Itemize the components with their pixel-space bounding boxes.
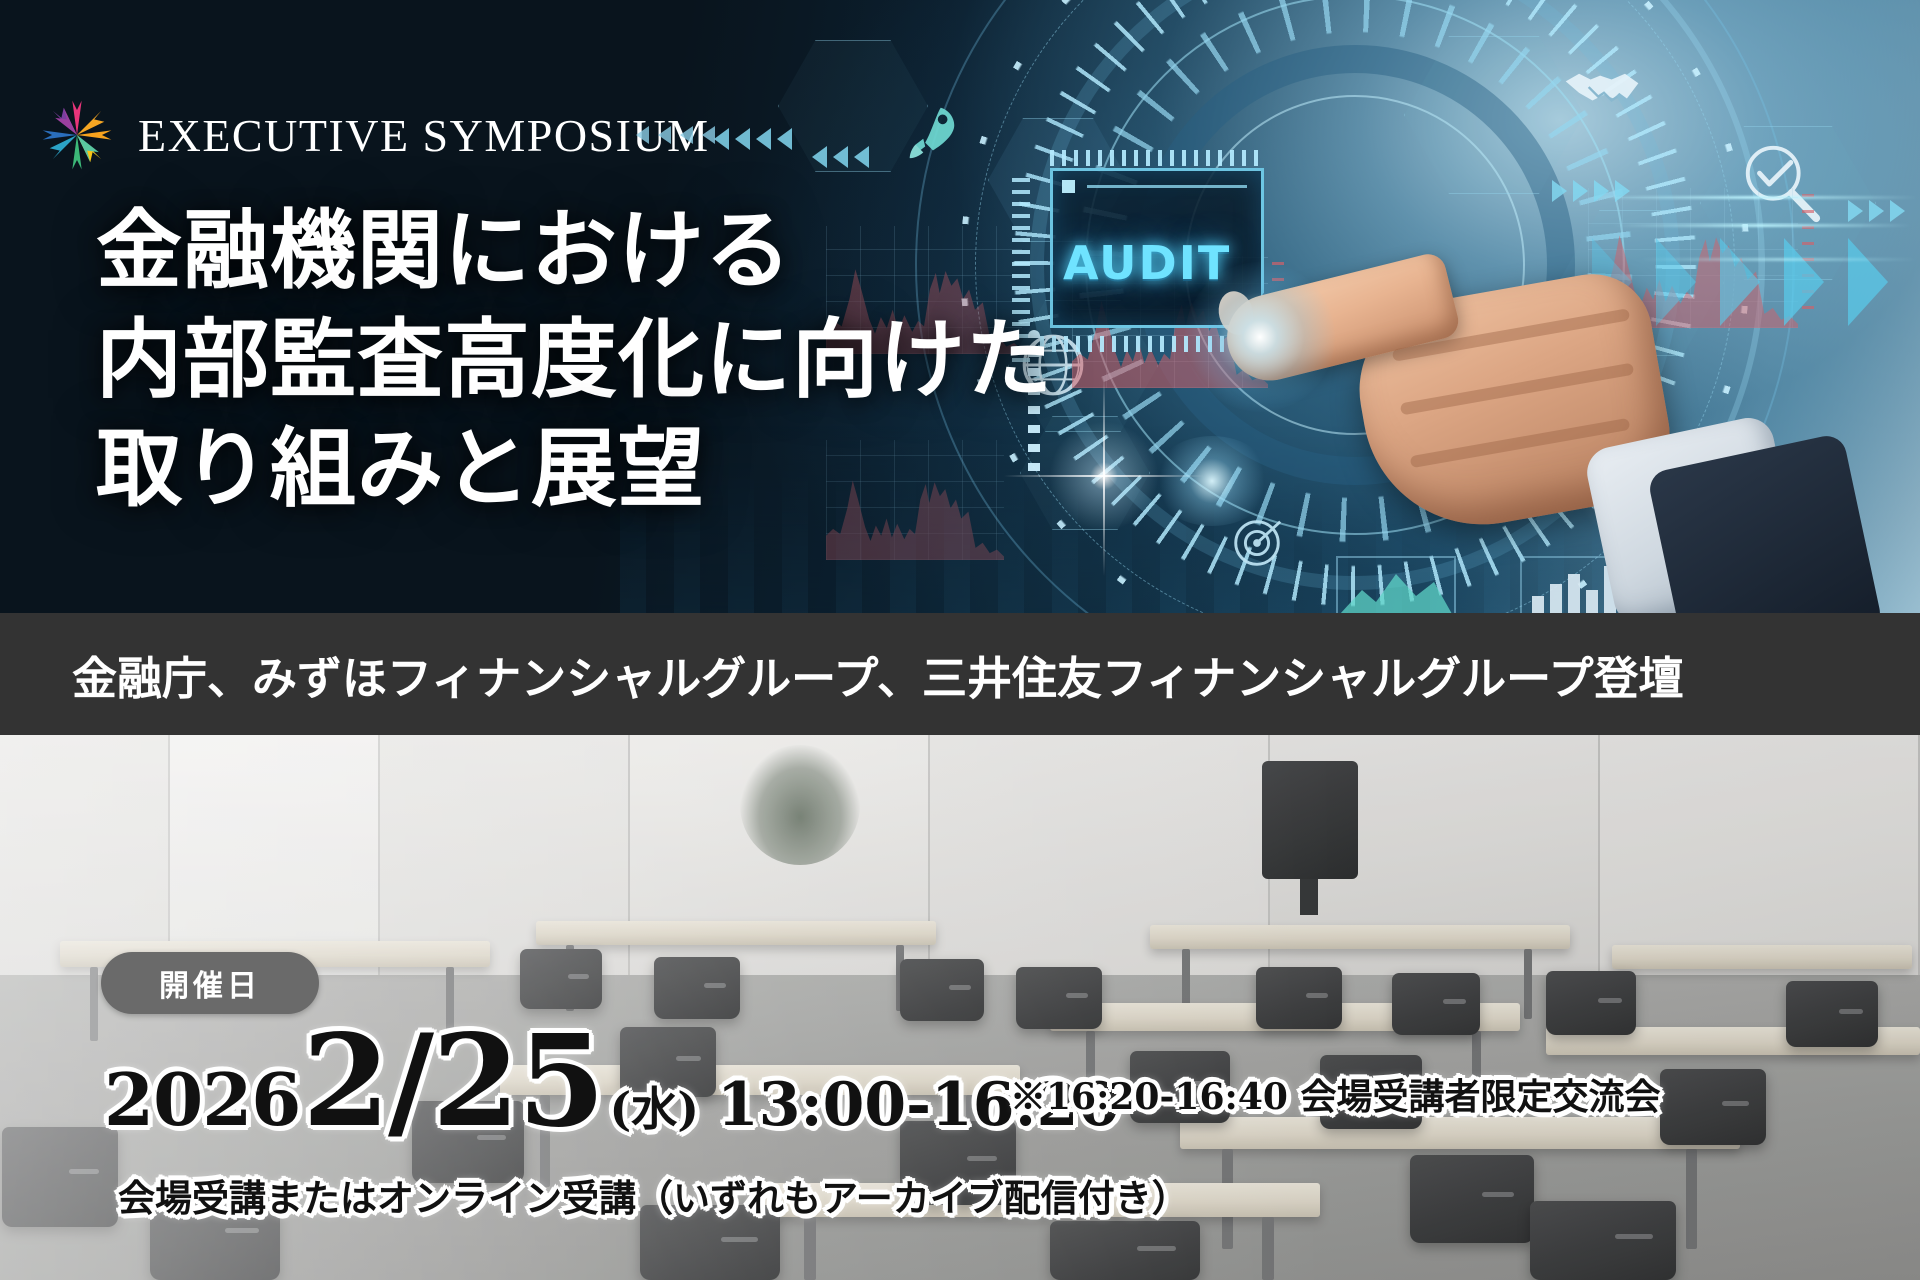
event-date-line: 2026 2/25 (水) 13:00-16:20: [104, 1030, 1120, 1142]
lens-flare: [1034, 406, 1174, 546]
touch-glow: [1185, 262, 1335, 412]
brand-lockup: EXECUTIVE SYMPOSIUM: [38, 96, 710, 174]
page-title: 金融機関における 内部監査高度化に向けた 取り組みと展望: [96, 196, 1053, 524]
light-streak: [1612, 224, 1912, 227]
chip-pins-graphic: [1050, 150, 1266, 166]
event-day-of-week: (水): [609, 1073, 699, 1139]
brand-name: EXECUTIVE SYMPOSIUM: [138, 109, 710, 162]
chevron-left-group-icon: [812, 146, 869, 168]
event-networking-note: ※16:20-16:40 会場受講者限定交流会: [1010, 1068, 1660, 1120]
speakers-bar: 金融庁、みずほフィナンシャルグループ、三井住友フィナンシャルグループ登壇: [0, 613, 1920, 735]
symposium-banner: AUDIT: [0, 0, 1920, 1280]
chevron-right-large-icon: [1848, 238, 1888, 326]
event-attendance-note: 会場受講またはオンライン受講（いずれもアーカイブ配信付き）: [118, 1168, 1189, 1222]
chevron-left-group-icon: [714, 128, 792, 150]
event-date-badge: 開催日: [101, 952, 319, 1014]
chevron-right-group-icon: [1848, 200, 1905, 222]
event-month-day: 2/25: [302, 1030, 603, 1133]
chevron-left-group-icon: [636, 126, 715, 144]
hero-section: AUDIT: [0, 0, 1920, 613]
chevron-right-large-icon: [1784, 238, 1824, 326]
speakers-bar-text: 金融庁、みずほフィナンシャルグループ、三井住友フィナンシャルグループ登壇: [72, 642, 1683, 707]
rocket-icon: [900, 100, 962, 162]
handshake-icon: [1560, 58, 1646, 120]
event-year: 2026: [104, 1057, 300, 1142]
light-streak: [1588, 196, 1918, 199]
pinwheel-star-logo-icon: [38, 96, 116, 174]
